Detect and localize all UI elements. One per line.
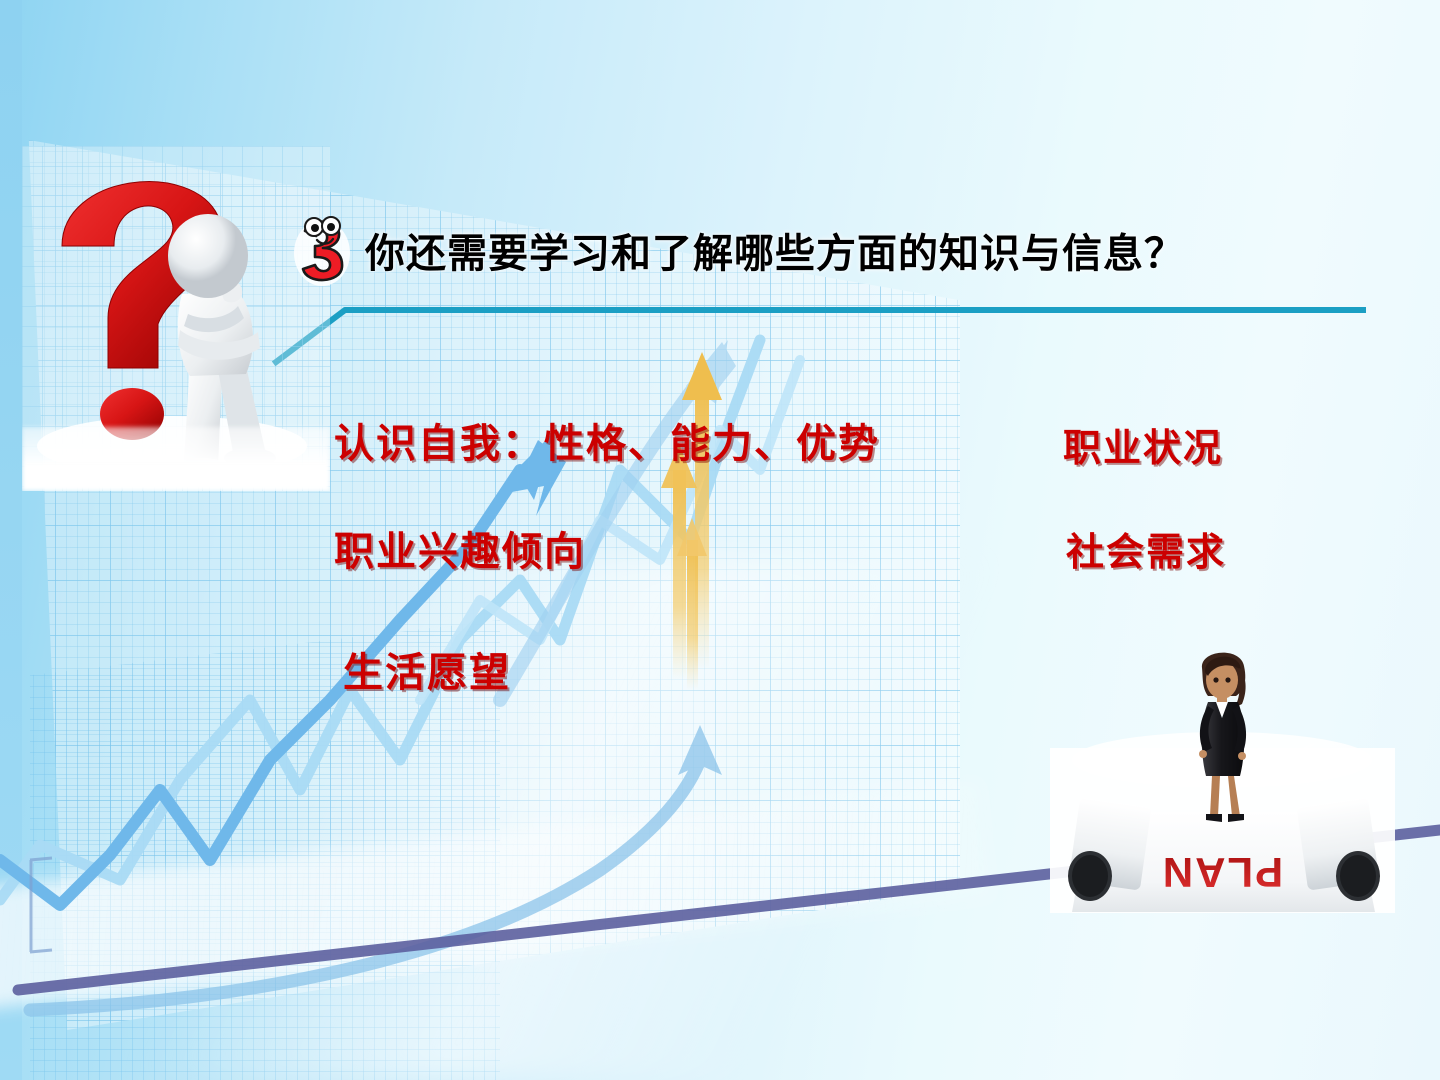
image-floor-shadow <box>22 427 330 491</box>
thinking-person-question-mark-image <box>22 146 330 491</box>
svg-text:PLAN: PLAN <box>1161 849 1283 896</box>
businesswoman-plan-scroll-image: PLAN <box>1050 630 1395 925</box>
left-item-career-interest: 职业兴趣倾向 <box>334 519 586 577</box>
plan-scroll-illustration: PLAN <box>1050 630 1395 925</box>
title-pointer-line <box>276 310 1363 362</box>
gold-arrow-short <box>687 540 698 690</box>
cartoon-number-three-icon <box>293 213 351 287</box>
scroll-roll-right <box>1297 797 1380 901</box>
left-item-self-awareness: 认识自我：性格、能力、优势 <box>334 411 880 469</box>
page-title: 你还需要学习和了解哪些方面的知识与信息？ <box>365 221 1185 279</box>
plan-word: PLAN <box>1161 849 1283 896</box>
gold-arrow-medium <box>673 470 686 680</box>
scroll-roll-left <box>1068 797 1151 901</box>
slide-canvas: 你还需要学习和了解哪些方面的知识与信息？ 认识自我：性格、能力、优势 职业兴趣倾… <box>0 0 1440 1080</box>
right-item-job-situation: 职业状况 <box>1063 417 1223 472</box>
left-item-life-aspiration: 生活愿望 <box>343 640 511 698</box>
right-item-social-demand: 社会需求 <box>1066 521 1226 576</box>
slide-title-row: 你还需要学习和了解哪些方面的知识与信息？ <box>293 213 1185 287</box>
